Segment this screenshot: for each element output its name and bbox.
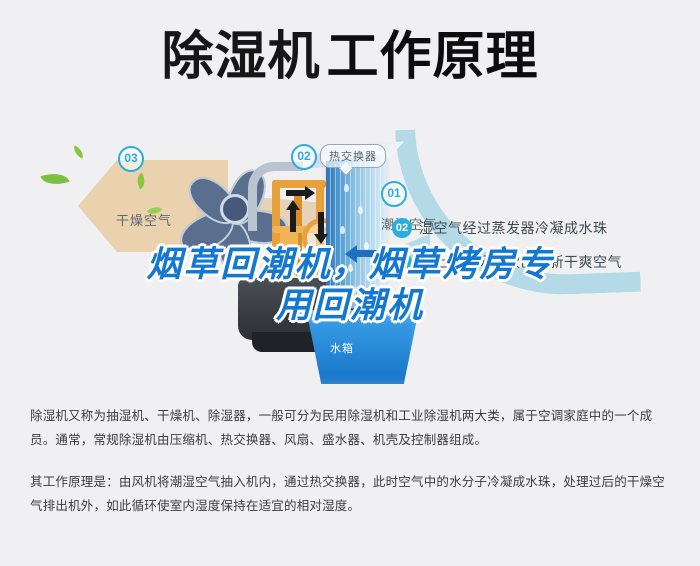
- leaf-icon: [40, 168, 69, 189]
- legend-label: 湿空气经过蒸发器冷凝成水珠: [419, 218, 608, 238]
- legend-number: 03: [392, 252, 412, 272]
- paragraph-1: 除湿机又称为抽湿机、干燥机、除湿器，一般可分为民用除湿机和工业除湿机两大类，属于…: [30, 404, 670, 452]
- flow-arrow-icon: [286, 190, 306, 196]
- flow-arrow-icon: [318, 212, 324, 234]
- infographic-page: 除湿机工作原理: [0, 0, 700, 566]
- article-body: 除湿机又称为抽湿机、干燥机、除湿器，一般可分为民用除湿机和工业除湿机两大类，属于…: [0, 404, 700, 536]
- paragraph-1-block: 除湿机又称为抽湿机、干燥机、除湿器，一般可分为民用除湿机和工业除湿机两大类，属于…: [0, 404, 700, 452]
- legend-item: 02 湿空气经过蒸发器冷凝成水珠: [392, 218, 692, 238]
- badge-01-humid-air: 01: [381, 181, 407, 207]
- water-drop-icon: [336, 286, 341, 294]
- bubble-heat-exchanger: 热交换器: [320, 144, 386, 168]
- water-drop-icon: [358, 206, 363, 214]
- water-drop-icon: [340, 226, 345, 234]
- legend-number: 02: [392, 218, 412, 238]
- water-tank-icon: [300, 314, 418, 384]
- label-dry-air: 干燥空气: [116, 210, 172, 229]
- water-drop-icon: [344, 184, 349, 192]
- paragraph-2-block: 其工作原理是：由风机将潮湿空气抽入机内，通过热交换器，此时空气中的水分子冷凝成水…: [0, 470, 700, 518]
- fan-hub-icon: [220, 194, 250, 224]
- water-drop-icon: [364, 242, 369, 250]
- legend-item: 03 从上部出风口吹出清新干爽空气: [392, 252, 692, 272]
- diagram-legend: 02 湿空气经过蒸发器冷凝成水珠 03 从上部出风口吹出清新干爽空气: [392, 218, 692, 286]
- badge-02-heat-exchanger: 02: [291, 144, 317, 170]
- leaf-icon: [71, 145, 86, 158]
- water-drop-icon: [348, 264, 353, 272]
- badge-03-dry-air: 03: [118, 146, 144, 172]
- legend-label: 从上部出风口吹出清新干爽空气: [419, 252, 622, 272]
- evaporator-fins-icon: [330, 159, 384, 307]
- title-part-1: 除湿机: [161, 28, 320, 86]
- airflow-arrow-icon: [356, 250, 386, 257]
- water-tank-label: 水箱: [330, 340, 354, 356]
- flow-arrow-icon: [290, 210, 296, 232]
- coil-pipe-icon: [272, 180, 326, 188]
- paragraph-2: 其工作原理是：由风机将潮湿空气抽入机内，通过热交换器，此时空气中的水分子冷凝成水…: [30, 470, 670, 518]
- compressor-can-icon: [280, 226, 298, 270]
- title-text: 除湿机工作原理: [161, 28, 538, 86]
- title-part-2: 工作原理: [327, 28, 539, 86]
- page-title: 除湿机工作原理: [0, 28, 700, 86]
